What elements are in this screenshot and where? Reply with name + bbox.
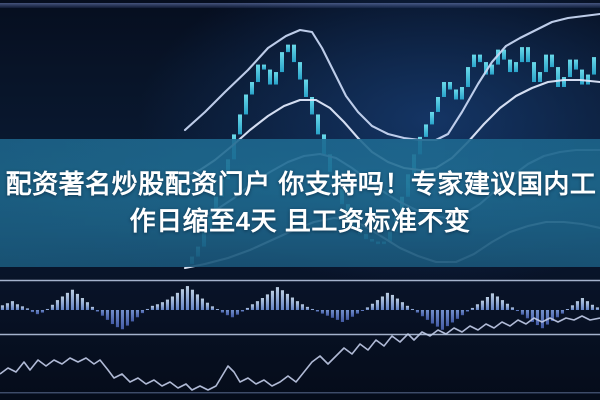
banner-image: 配资著名炒股配资门户 你支持吗！专家建议国内工 作日缩至4天 且工资标准不变	[0, 0, 600, 400]
headline-line-1: 配资著名炒股配资门户 你支持吗！专家建议国内工	[4, 168, 597, 201]
macd-histogram	[1, 286, 599, 330]
trend-line-series	[0, 316, 600, 390]
headline-line-2: 作日缩至4天 且工资标准不变	[130, 205, 471, 238]
headline-text-block: 配资著名炒股配资门户 你支持吗！专家建议国内工 作日缩至4天 且工资标准不变	[0, 139, 600, 267]
